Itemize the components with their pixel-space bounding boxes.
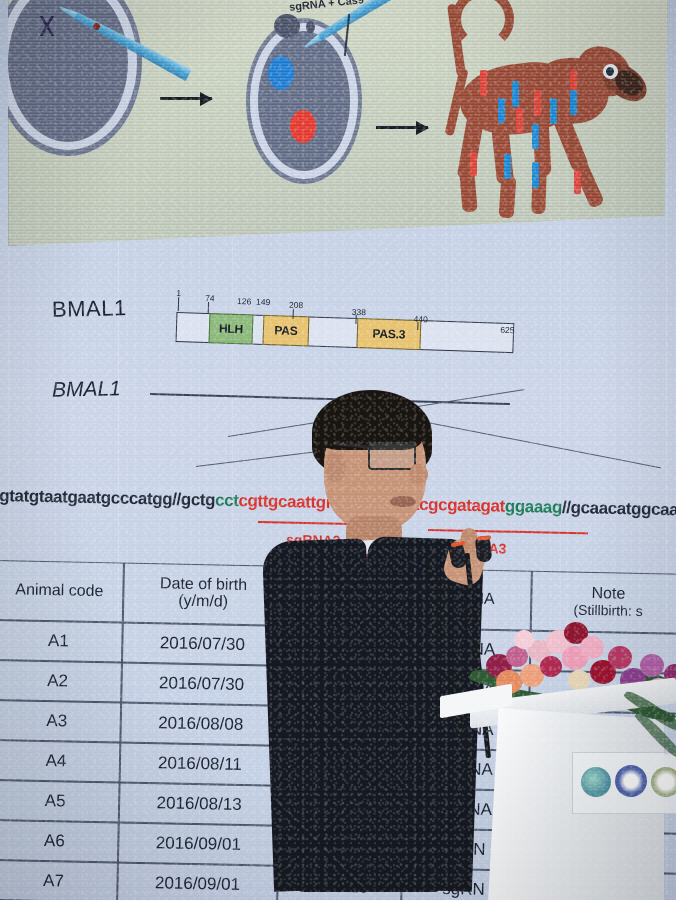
screenshot-root: sgRNA + Cas9 — [0, 0, 676, 900]
